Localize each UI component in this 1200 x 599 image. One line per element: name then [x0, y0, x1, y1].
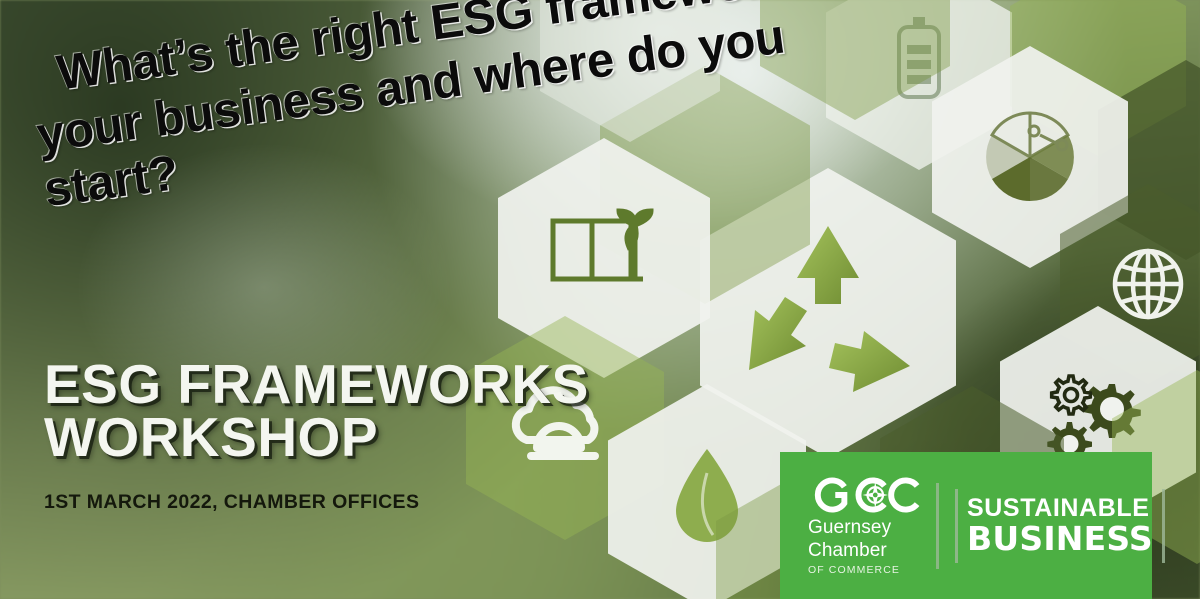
- gcc-org-line-1: Guernsey: [808, 518, 926, 538]
- event-title-line-2: WORKSHOP: [44, 411, 589, 464]
- globe-icon: [1107, 243, 1189, 325]
- sb-text: SUSTAINABLE BUSINESS: [958, 496, 1162, 555]
- compass-star-icon: [863, 483, 888, 508]
- logo-divider: [936, 483, 939, 569]
- sb-line-2: BUSINESS: [967, 522, 1153, 555]
- logo-panel: Guernsey Chamber OF COMMERCE SUSTAINABLE…: [780, 452, 1152, 599]
- event-title-line-1: ESG FRAMEWORKS: [44, 358, 589, 411]
- sb-line-1: SUSTAINABLE: [967, 496, 1153, 522]
- gcc-monogram-icon: [808, 475, 928, 515]
- esg-workshop-banner: What’s the right ESG framework for your …: [0, 0, 1200, 599]
- event-title-block: ESG FRAMEWORKS WORKSHOP 1ST MARCH 2022, …: [44, 358, 589, 514]
- gcc-logo: Guernsey Chamber OF COMMERCE: [808, 475, 926, 576]
- solar-wind-icon: [539, 203, 669, 313]
- sb-bar-left: [955, 489, 958, 563]
- pie-chart-icon: [978, 105, 1082, 209]
- sustainable-business-lockup: SUSTAINABLE BUSINESS: [955, 489, 1165, 563]
- sb-bar-right: [1162, 489, 1165, 563]
- gcc-org-sub: OF COMMERCE: [808, 564, 926, 576]
- gcc-org-line-2: Chamber: [808, 541, 926, 561]
- event-date-location: 1ST MARCH 2022, CHAMBER OFFICES: [44, 491, 589, 514]
